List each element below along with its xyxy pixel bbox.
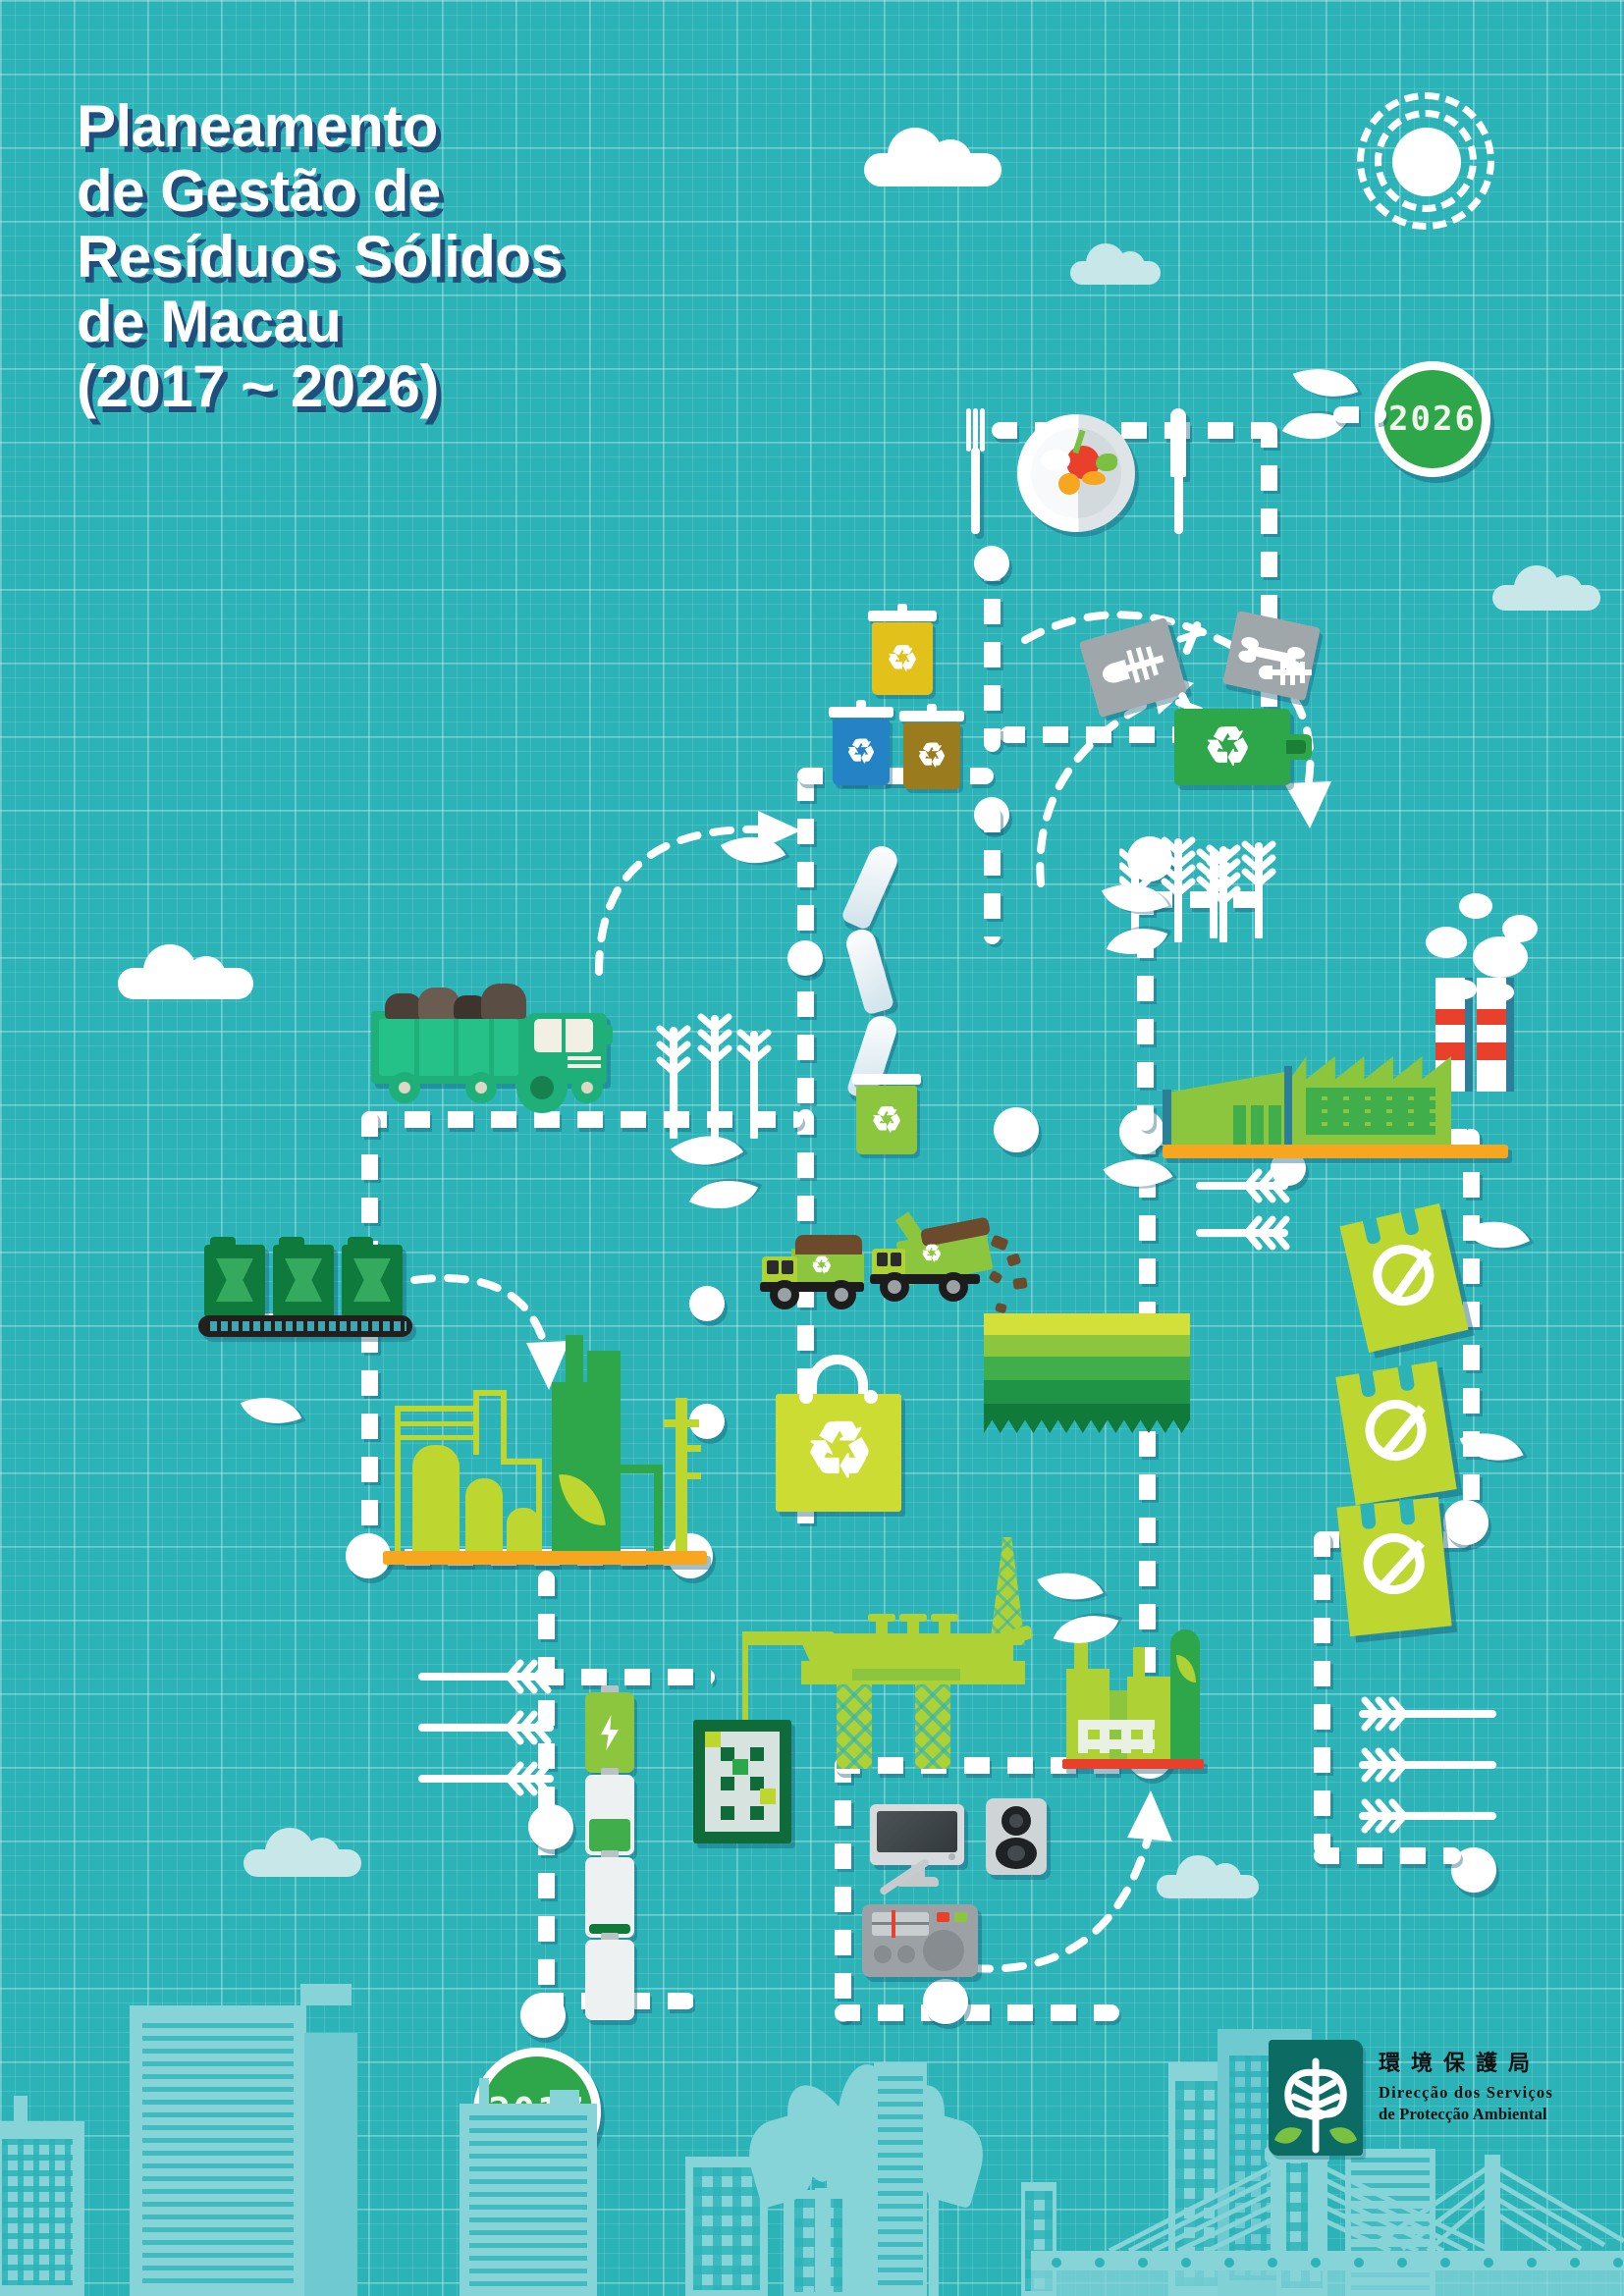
wheat-sprout-icon: [410, 1659, 558, 1850]
path-segment: [984, 556, 1001, 752]
knife-icon: [1168, 408, 1188, 534]
logo-portuguese-line-1: Direcção dos Serviços: [1379, 2083, 1553, 2103]
jerry-can-icon: [204, 1235, 418, 1329]
radio-icon: [862, 1895, 988, 1981]
leaf-icon: [689, 1164, 758, 1225]
plastic-bag-ban-icon: [1335, 1362, 1456, 1506]
page-title: Planeamento de Gestão de Resíduos Sólido…: [77, 94, 563, 419]
factory-icon: [1168, 962, 1522, 1158]
city-skyline: [0, 1982, 1624, 2296]
logo-portuguese-line-2: de Protecção Ambiental: [1379, 2105, 1553, 2124]
circuit-board-icon: [693, 1720, 791, 1843]
dump-truck-icon: ♻: [870, 1209, 1013, 1308]
meal-plate-icon: [1017, 414, 1135, 532]
recycle-bin-green-icon: ♻: [856, 1074, 917, 1154]
glass-bottle-icon: [840, 842, 901, 932]
path-node: [974, 546, 1009, 581]
bridge-icon: [1031, 2147, 1624, 2296]
compost-bin-icon: ♻: [1174, 709, 1312, 785]
cloud-icon: [1070, 243, 1161, 285]
path-node: [994, 1107, 1039, 1152]
cloud-icon: [118, 944, 253, 999]
plant-building-icon: [1066, 1629, 1200, 1769]
speaker-icon: [986, 1798, 1047, 1875]
fish-bones-icon: [1259, 652, 1337, 691]
wheat-sprout-icon: [1355, 1696, 1502, 1888]
recycle-bin-brown-icon: ♻: [903, 711, 960, 789]
path-segment: [1314, 1531, 1330, 1855]
wheat-sprout-icon: [1194, 840, 1292, 943]
oil-rig-icon: [742, 1523, 1096, 1769]
plastic-bag-ban-icon: [1336, 1497, 1451, 1636]
dspa-logo-mark: [1269, 2040, 1363, 2156]
path-segment: [1333, 406, 1386, 423]
cloud-icon: [1492, 565, 1600, 611]
leaf-icon: [241, 1384, 301, 1438]
cloud-icon: [864, 128, 1001, 187]
glass-bottle-icon: [843, 927, 895, 1016]
curved-arrow: [589, 785, 825, 982]
recycle-bin-blue-icon: ♻: [833, 707, 890, 785]
dump-truck-icon: ♻: [756, 1227, 874, 1306]
battery-icon: [585, 1775, 634, 1855]
crane-icon: [742, 1631, 748, 1722]
computer-monitor-icon: [870, 1804, 976, 1893]
plastic-bag-ban-icon: [1339, 1203, 1468, 1353]
badge-2026[interactable]: 2026: [1375, 361, 1490, 477]
path-segment: [797, 768, 994, 784]
logo-chinese-name: 環境保護局: [1379, 2046, 1553, 2077]
eco-refinery-icon: [383, 1335, 707, 1561]
lotus-monument-icon: [717, 2070, 1011, 2296]
cloud-icon: [244, 1828, 361, 1877]
recycle-shopping-bag-icon: ♻: [776, 1355, 901, 1512]
wheat-sprout-icon: [656, 1011, 774, 1144]
recycle-bin-yellow-icon: ♻: [872, 611, 933, 695]
badge-2026-label: 2026: [1388, 400, 1477, 439]
path-segment: [1463, 1129, 1480, 1541]
fork-icon: [966, 408, 984, 534]
leaf-icon: [1293, 355, 1358, 411]
battery-icon: [585, 1692, 634, 1773]
leaf-icon: [1282, 397, 1347, 456]
landfill-layers-icon: [984, 1313, 1190, 1433]
path-segment: [984, 807, 1001, 944]
garbage-truck-icon: [371, 970, 619, 1103]
path-segment: [538, 1669, 715, 1685]
path-node: [689, 1286, 725, 1321]
path-node: [1443, 1500, 1489, 1545]
wheat-sprout-icon: [1190, 1168, 1298, 1350]
battery-icon: [585, 1857, 634, 1938]
poster-canvas: Planeamento de Gestão de Resíduos Sólido…: [0, 0, 1624, 2296]
sun-icon: [1347, 82, 1504, 240]
